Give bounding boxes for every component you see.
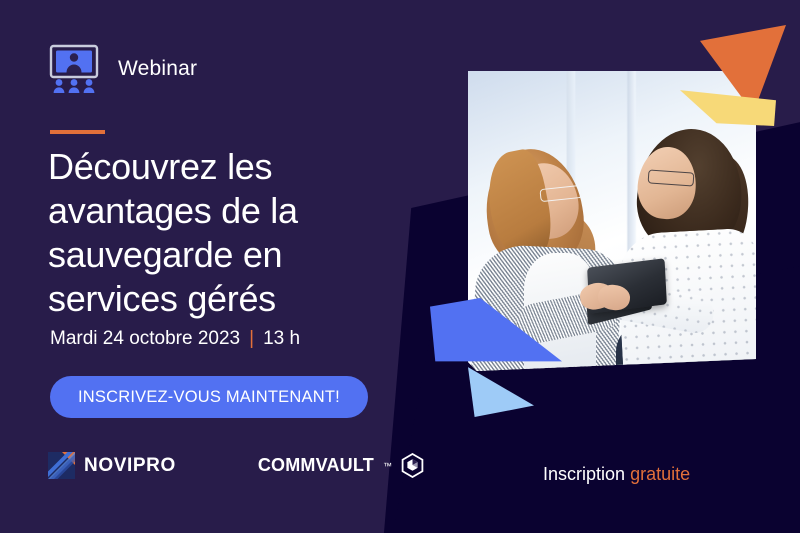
commvault-logo: COMMVAULT ™ [258,453,424,478]
eyebrow-row: Webinar [48,44,197,94]
free-registration-notice: Inscription gratuite [543,464,690,485]
novipro-logo: NOVIPRO [48,452,176,479]
commvault-hexagon-mark-icon [401,453,424,478]
webinar-presentation-icon [48,44,104,94]
commvault-trademark: ™ [383,461,392,471]
novipro-diagonal-stripes-mark-icon [48,452,75,479]
novipro-wordmark: NOVIPRO [84,455,176,477]
logo-row: NOVIPRO COMMVAULT ™ [48,452,424,479]
orange-divider-rule [50,130,105,134]
commvault-wordmark: COMMVAULT [258,455,374,476]
event-date: Mardi 24 octobre 2023 [50,328,240,350]
page-title: Découvrez les avantages de la sauvegarde… [48,145,388,321]
event-datetime: Mardi 24 octobre 2023 | 13 h [50,328,300,350]
event-separator: | [249,328,254,350]
free-notice-prefix: Inscription [543,464,625,484]
event-time: 13 h [263,328,300,350]
content-column: Webinar Découvrez les avantages de la sa… [48,0,378,533]
register-button[interactable]: INSCRIVEZ-VOUS MAINTENANT! [50,376,368,418]
webinar-promo-banner: Webinar Découvrez les avantages de la sa… [0,0,800,533]
free-notice-accent: gratuite [630,464,690,484]
eyebrow-label: Webinar [118,57,197,81]
